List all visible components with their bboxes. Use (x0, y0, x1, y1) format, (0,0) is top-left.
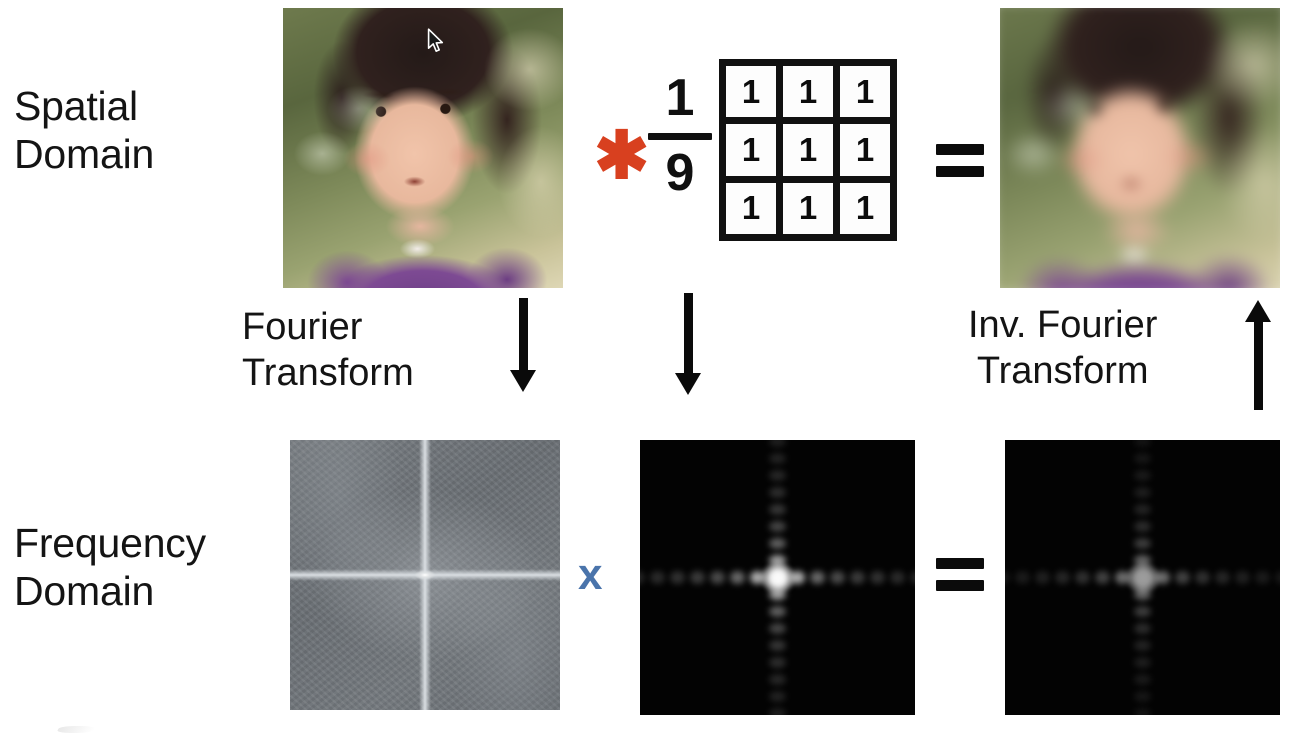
spectrum-lobe (769, 521, 786, 532)
spectrum-lobe (1005, 571, 1010, 584)
spectrum-lobe (769, 487, 786, 498)
kernel-cell: 1 (840, 124, 890, 175)
equals-bar (936, 144, 984, 155)
spectrum-lobe (670, 571, 685, 584)
spectrum-lobe (769, 440, 786, 447)
spectrum-lobe (1195, 571, 1210, 584)
fraction-one-ninth: 1 9 (648, 72, 712, 199)
fraction-numerator: 1 (648, 72, 712, 124)
spectrum-lobe (690, 571, 705, 584)
frequency-kernel-spectrum (640, 440, 915, 715)
spectrum-lobe (1134, 470, 1151, 481)
spectrum-lobe (769, 606, 786, 617)
spectrum-lobe (769, 470, 786, 481)
kernel-cell: 1 (783, 124, 833, 175)
equals-sign-frequency (936, 558, 984, 592)
spectrum-lobe (769, 504, 786, 515)
diagram-canvas: Spatial Domain Frequency Domain ✱ 1 9 1 … (0, 0, 1299, 737)
spectrum-lobe (1134, 623, 1151, 634)
down-arrow-icon (675, 293, 701, 395)
arrow-head (510, 370, 536, 392)
spatial-input-image (283, 8, 563, 288)
multiply-x-icon: x (578, 553, 602, 597)
spectrum-lobe (1134, 708, 1151, 715)
spatial-domain-row-label: Spatial Domain (14, 82, 154, 179)
spectrum-lobe (769, 589, 786, 600)
kernel-cell: 1 (783, 183, 833, 234)
spectrum-lobe (1134, 674, 1151, 685)
spectrum-lobe (1134, 487, 1151, 498)
spectrum-lobe (1134, 657, 1151, 668)
spectrum-lobe (1134, 691, 1151, 702)
arrow-shaft (1254, 322, 1263, 410)
arrow-head (1245, 300, 1271, 322)
spectrum-lobe (910, 571, 915, 584)
fraction-denominator: 9 (648, 147, 712, 199)
spectrum-lobe (870, 571, 885, 584)
spectrum-lobe (1175, 571, 1190, 584)
arrow-shaft (684, 293, 693, 373)
spectrum-lobe (750, 571, 765, 584)
toddler-photo-blurred (1000, 8, 1280, 288)
kernel-cell: 1 (840, 183, 890, 234)
spectrum-lobe (1055, 571, 1070, 584)
kernel-cell: 1 (726, 124, 776, 175)
spectrum-lobe (769, 623, 786, 634)
spectrum-lobe (1134, 538, 1151, 549)
spectrum-lobe (1255, 571, 1270, 584)
toddler-photo-sharp (283, 8, 563, 288)
spectrum-lobe (810, 571, 825, 584)
sinc-spectrum-dim (1005, 440, 1280, 715)
spectrum-lobe (1015, 571, 1030, 584)
spectrum-lobe (1095, 571, 1110, 584)
spatial-output-image (1000, 8, 1280, 288)
magnitude-spectrum-gray (290, 440, 560, 710)
spectrum-lobe (730, 571, 745, 584)
kernel-cell: 1 (783, 66, 833, 117)
fourier-transform-label: Fourier Transform (242, 305, 414, 396)
up-arrow-icon (1245, 300, 1271, 410)
spectrum-lobe (1215, 571, 1230, 584)
spectrum-lobe (1134, 640, 1151, 651)
page-artifact (56, 726, 96, 733)
convolution-asterisk-icon: ✱ (594, 122, 649, 188)
equals-bar (936, 580, 984, 591)
spectrum-lobe (1134, 504, 1151, 515)
spectrum-lobe (640, 571, 645, 584)
spectrum-lobe (890, 571, 905, 584)
spectrum-lobe (769, 657, 786, 668)
arrow-head (675, 373, 701, 395)
spectrum-lobe (1134, 555, 1151, 566)
spectrum-lobe (1134, 589, 1151, 600)
spectrum-lobe (1134, 440, 1151, 447)
spectrum-lobe (1275, 571, 1280, 584)
spectrum-lobe (769, 674, 786, 685)
kernel-cell: 1 (840, 66, 890, 117)
frequency-input-spectrum (290, 440, 560, 710)
spectrum-lobe (650, 571, 665, 584)
spectrum-lobe (1134, 606, 1151, 617)
spectrum-lobe (830, 571, 845, 584)
arrow-shaft (519, 298, 528, 370)
frequency-output-spectrum (1005, 440, 1280, 715)
spectrum-lobe (1035, 571, 1050, 584)
sinc-spectrum-bright (640, 440, 915, 715)
spectrum-lobe (769, 708, 786, 715)
spectrum-lobe (769, 453, 786, 464)
spectrum-lobe (1155, 571, 1170, 584)
frequency-domain-row-label: Frequency Domain (14, 519, 206, 616)
spectrum-lobe (769, 691, 786, 702)
spectrum-lobe (850, 571, 865, 584)
spectrum-lobe (1134, 453, 1151, 464)
down-arrow-icon (510, 298, 536, 392)
kernel-cell: 1 (726, 66, 776, 117)
spectrum-lobe (710, 571, 725, 584)
spectrum-lobe (1115, 571, 1130, 584)
equals-bar (936, 166, 984, 177)
spectrum-lobe (769, 538, 786, 549)
spectrum-lobe (1134, 521, 1151, 532)
inverse-fourier-transform-label: Inv. Fourier Transform (968, 303, 1157, 394)
equals-bar (936, 558, 984, 569)
spectrum-lobe (790, 571, 805, 584)
kernel-cell: 1 (726, 183, 776, 234)
spectrum-lobe (769, 555, 786, 566)
equals-sign-spatial (936, 144, 984, 178)
spectrum-lobe (1235, 571, 1250, 584)
spectrum-lobe (1075, 571, 1090, 584)
spectrum-lobe (769, 640, 786, 651)
kernel-matrix: 1 1 1 1 1 1 1 1 1 (719, 59, 897, 241)
fraction-bar (648, 133, 712, 140)
